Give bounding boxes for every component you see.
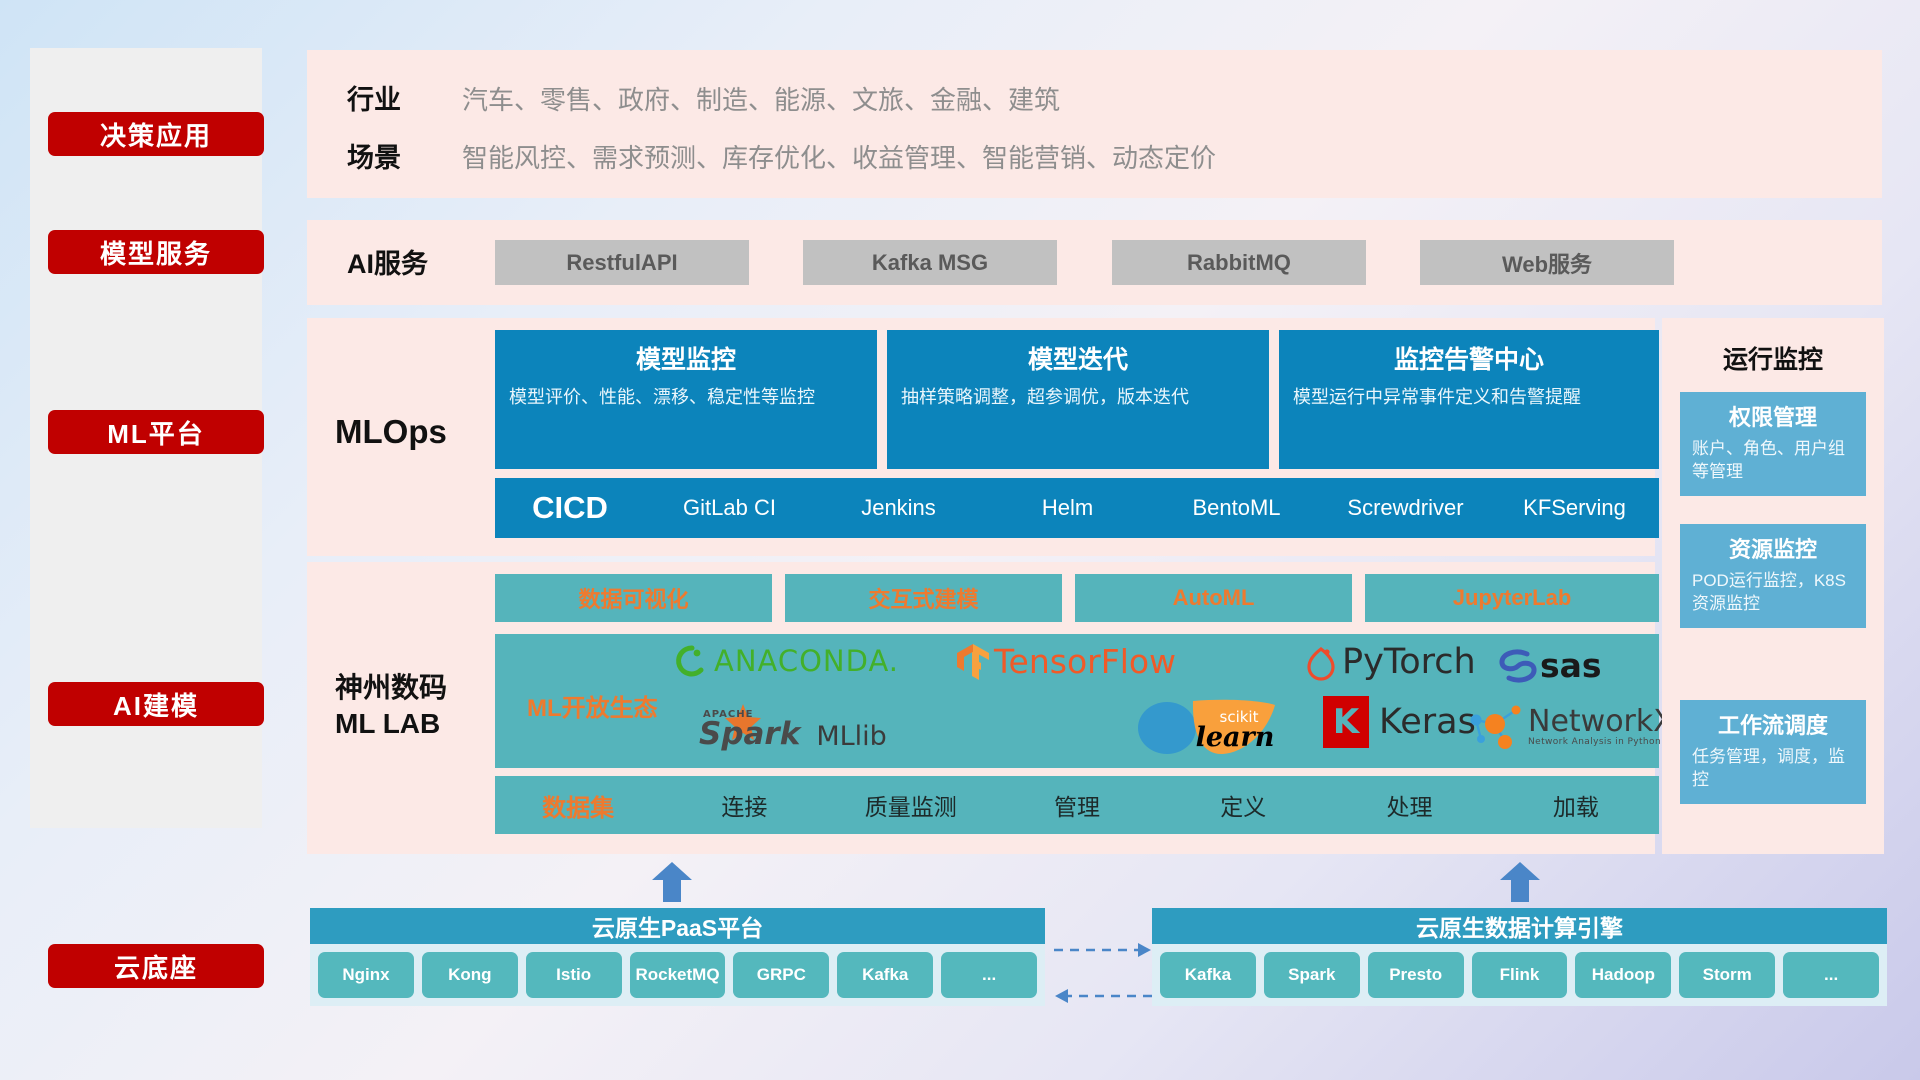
- scenario-value: 智能风控、需求预测、库存优化、收益管理、智能营销、动态定价: [462, 138, 1216, 175]
- spark-mllib-logo: APACHE Spark MLlib: [691, 700, 887, 758]
- cicd-item-helm[interactable]: Helm: [983, 495, 1152, 520]
- card-title: 权限管理: [1692, 400, 1854, 432]
- card-desc: POD运行监控，K8S资源监控: [1692, 570, 1854, 616]
- paas-platform-title: 云原生PaaS平台: [310, 908, 1045, 944]
- ai-service-label: AI服务: [347, 242, 428, 281]
- dataset-item-loading[interactable]: 加载: [1493, 788, 1659, 822]
- engine-chip-presto[interactable]: Presto: [1368, 952, 1464, 998]
- card-desc: 任务管理，调度，监控: [1692, 746, 1854, 792]
- modeling-tab-data-visualization[interactable]: 数据可视化: [495, 574, 772, 622]
- ml-lab-label-line2: ML LAB: [335, 706, 447, 742]
- card-desc: 抽样策略调整，超参调优，版本迭代: [901, 385, 1255, 409]
- industry-value: 汽车、零售、政府、制造、能源、文旅、金融、建筑: [462, 80, 1060, 117]
- engine-chip-flink[interactable]: Flink: [1472, 952, 1568, 998]
- anaconda-wordmark: ANACONDA.: [714, 644, 899, 678]
- chip-label: Kafka MSG: [872, 250, 988, 276]
- monitoring-card-workflow[interactable]: 工作流调度 任务管理，调度，监控: [1680, 700, 1866, 804]
- networkx-tagline: Network Analysis in Python: [1528, 737, 1674, 747]
- cicd-item-jenkins[interactable]: Jenkins: [814, 495, 983, 520]
- cicd-item-gitlab-ci[interactable]: GitLab CI: [645, 495, 814, 520]
- sas-wordmark: sas: [1540, 646, 1602, 685]
- data-engine-block: 云原生数据计算引擎 Kafka Spark Presto Flink Hadoo…: [1152, 908, 1887, 1006]
- tab-label: 交互式建模: [868, 582, 978, 614]
- rail-tag-cloud-foundation[interactable]: 云底座: [48, 944, 264, 988]
- chip-label: RabbitMQ: [1187, 250, 1291, 276]
- paas-chip-grpc[interactable]: GRPC: [733, 952, 829, 998]
- networkx-mark-icon: [1467, 702, 1525, 752]
- arrow-up-paas-icon: [650, 862, 694, 902]
- paas-chip-rocketmq[interactable]: RocketMQ: [630, 952, 726, 998]
- ai-service-web[interactable]: Web服务: [1420, 240, 1674, 285]
- card-desc: 模型评价、性能、漂移、稳定性等监控: [509, 385, 863, 409]
- keras-wordmark: Keras: [1379, 702, 1476, 742]
- mlops-card-alert-center[interactable]: 监控告警中心 模型运行中异常事件定义和告警提醒: [1279, 330, 1659, 469]
- rail-tag-ai-modeling[interactable]: AI建模: [48, 682, 264, 726]
- engine-chip-kafka[interactable]: Kafka: [1160, 952, 1256, 998]
- card-desc: 模型运行中异常事件定义和告警提醒: [1293, 385, 1645, 409]
- dataset-item-processing[interactable]: 处理: [1326, 788, 1492, 822]
- data-engine-chip-list: Kafka Spark Presto Flink Hadoop Storm ..…: [1152, 944, 1887, 1006]
- modeling-tab-automl[interactable]: AutoML: [1075, 574, 1352, 622]
- ml-lab-label: 神州数码 ML LAB: [335, 670, 447, 742]
- anaconda-mark-icon: [675, 644, 709, 678]
- sas-mark-icon: [1497, 648, 1539, 684]
- card-title: 监控告警中心: [1293, 340, 1645, 376]
- dataset-item-management[interactable]: 管理: [994, 788, 1160, 822]
- scikit-learn-logo: scikit learn: [1135, 696, 1295, 758]
- mllib-wordmark: MLlib: [816, 721, 886, 752]
- dataset-item-definition[interactable]: 定义: [1160, 788, 1326, 822]
- paas-chip-more[interactable]: ...: [941, 952, 1037, 998]
- paas-chip-kafka[interactable]: Kafka: [837, 952, 933, 998]
- rail-tag-label: 决策应用: [100, 116, 212, 153]
- paas-chip-kong[interactable]: Kong: [422, 952, 518, 998]
- mlops-label: MLOps: [335, 413, 447, 451]
- anaconda-logo: ANACONDA.: [675, 644, 899, 678]
- networkx-logo: NetworkX Network Analysis in Python: [1467, 702, 1674, 752]
- svg-text:learn: learn: [1196, 722, 1275, 753]
- keras-mark-icon: K: [1323, 696, 1369, 748]
- engine-chip-more[interactable]: ...: [1783, 952, 1879, 998]
- ml-ecosystem-panel: ML开放生态 ANACONDA. APACHE Spark MLlib: [495, 634, 1659, 768]
- modeling-tab-jupyterlab[interactable]: JupyterLab: [1365, 574, 1659, 622]
- mlops-cicd-row: CICD GitLab CI Jenkins Helm BentoML Scre…: [495, 478, 1659, 538]
- chip-label: RestfulAPI: [566, 250, 677, 276]
- runtime-monitoring-title: 运行监控: [1662, 340, 1884, 376]
- ai-service-rabbitmq[interactable]: RabbitMQ: [1112, 240, 1366, 285]
- cicd-label: CICD: [495, 490, 645, 526]
- engine-chip-hadoop[interactable]: Hadoop: [1575, 952, 1671, 998]
- card-title: 模型迭代: [901, 340, 1255, 376]
- rail-tag-label: AI建模: [113, 686, 199, 723]
- dataset-row: 数据集 连接 质量监测 管理 定义 处理 加载: [495, 776, 1659, 834]
- sas-logo: sas: [1497, 646, 1602, 685]
- modeling-tab-interactive-modeling[interactable]: 交互式建模: [785, 574, 1062, 622]
- ai-service-restfulapi[interactable]: RestfulAPI: [495, 240, 749, 285]
- tensorflow-wordmark: TensorFlow: [994, 642, 1176, 681]
- dataset-item-quality-monitoring[interactable]: 质量监测: [828, 788, 994, 822]
- keras-logo: K Keras: [1323, 696, 1476, 748]
- dataset-item-connect[interactable]: 连接: [661, 788, 827, 822]
- keras-k-letter: K: [1333, 702, 1359, 742]
- paas-chip-list: Nginx Kong Istio RocketMQ GRPC Kafka ...: [310, 944, 1045, 1006]
- arrow-up-data-engine-icon: [1498, 862, 1542, 902]
- tensorflow-logo: TensorFlow: [955, 642, 1176, 681]
- scenario-label: 场景: [347, 136, 447, 175]
- scikit-learn-mark-icon: scikit learn: [1135, 696, 1295, 758]
- pytorch-mark-icon: [1305, 643, 1337, 681]
- spark-wordmark: Spark: [699, 720, 800, 749]
- cicd-item-kfserving[interactable]: KFServing: [1490, 495, 1659, 520]
- rail-tag-label: 模型服务: [100, 234, 212, 271]
- rail-tag-decision-apps[interactable]: 决策应用: [48, 112, 264, 156]
- ai-service-band: AI服务 RestfulAPI Kafka MSG RabbitMQ Web服务: [307, 220, 1882, 305]
- pytorch-wordmark: PyTorch: [1342, 642, 1476, 682]
- engine-chip-storm[interactable]: Storm: [1679, 952, 1775, 998]
- tensorflow-mark-icon: [955, 643, 991, 681]
- rail-tag-label: 云底座: [114, 948, 198, 985]
- chip-label: Web服务: [1502, 247, 1592, 279]
- ml-lab-label-line1: 神州数码: [335, 670, 447, 706]
- ml-ecosystem-label: ML开放生态: [527, 688, 658, 723]
- pytorch-logo: PyTorch: [1305, 642, 1476, 682]
- monitoring-card-permission[interactable]: 权限管理 账户、角色、用户组等管理: [1680, 392, 1866, 496]
- data-engine-title: 云原生数据计算引擎: [1152, 908, 1887, 944]
- architecture-diagram: 决策应用 模型服务 ML平台 AI建模 云底座 行业 汽车、零售、政府、制造、能…: [0, 0, 1920, 1080]
- card-title: 模型监控: [509, 340, 863, 376]
- rail-tag-model-service[interactable]: 模型服务: [48, 230, 264, 274]
- networkx-wordmark: NetworkX: [1528, 707, 1674, 737]
- mlops-band: MLOps 模型监控 模型评价、性能、漂移、稳定性等监控 模型迭代 抽样策略调整…: [307, 318, 1655, 556]
- ai-modeling-band: 神州数码 ML LAB 数据可视化 交互式建模 AutoML JupyterLa…: [307, 562, 1655, 854]
- monitoring-card-resource[interactable]: 资源监控 POD运行监控，K8S资源监控: [1680, 524, 1866, 628]
- mlops-card-model-monitoring[interactable]: 模型监控 模型评价、性能、漂移、稳定性等监控: [495, 330, 877, 469]
- mlops-card-model-iteration[interactable]: 模型迭代 抽样策略调整，超参调优，版本迭代: [887, 330, 1269, 469]
- tab-label: 数据可视化: [578, 582, 688, 614]
- engine-chip-spark[interactable]: Spark: [1264, 952, 1360, 998]
- card-desc: 账户、角色、用户组等管理: [1692, 438, 1854, 484]
- foundation-connector-arrows: [1050, 938, 1156, 1018]
- decision-apps-band: 行业 汽车、零售、政府、制造、能源、文旅、金融、建筑 场景 智能风控、需求预测、…: [307, 50, 1882, 198]
- cicd-item-screwdriver[interactable]: Screwdriver: [1321, 495, 1490, 520]
- cicd-item-bentoml[interactable]: BentoML: [1152, 495, 1321, 520]
- industry-label: 行业: [347, 78, 447, 117]
- tab-label: AutoML: [1173, 585, 1255, 611]
- dataset-label: 数据集: [495, 788, 661, 823]
- tab-label: JupyterLab: [1453, 585, 1572, 611]
- paas-chip-istio[interactable]: Istio: [526, 952, 622, 998]
- ai-service-kafka-msg[interactable]: Kafka MSG: [803, 240, 1057, 285]
- rail-tag-ml-platform[interactable]: ML平台: [48, 410, 264, 454]
- paas-platform-block: 云原生PaaS平台 Nginx Kong Istio RocketMQ GRPC…: [310, 908, 1045, 1006]
- paas-chip-nginx[interactable]: Nginx: [318, 952, 414, 998]
- rail-tag-label: ML平台: [107, 414, 205, 451]
- card-title: 工作流调度: [1692, 708, 1854, 740]
- card-title: 资源监控: [1692, 532, 1854, 564]
